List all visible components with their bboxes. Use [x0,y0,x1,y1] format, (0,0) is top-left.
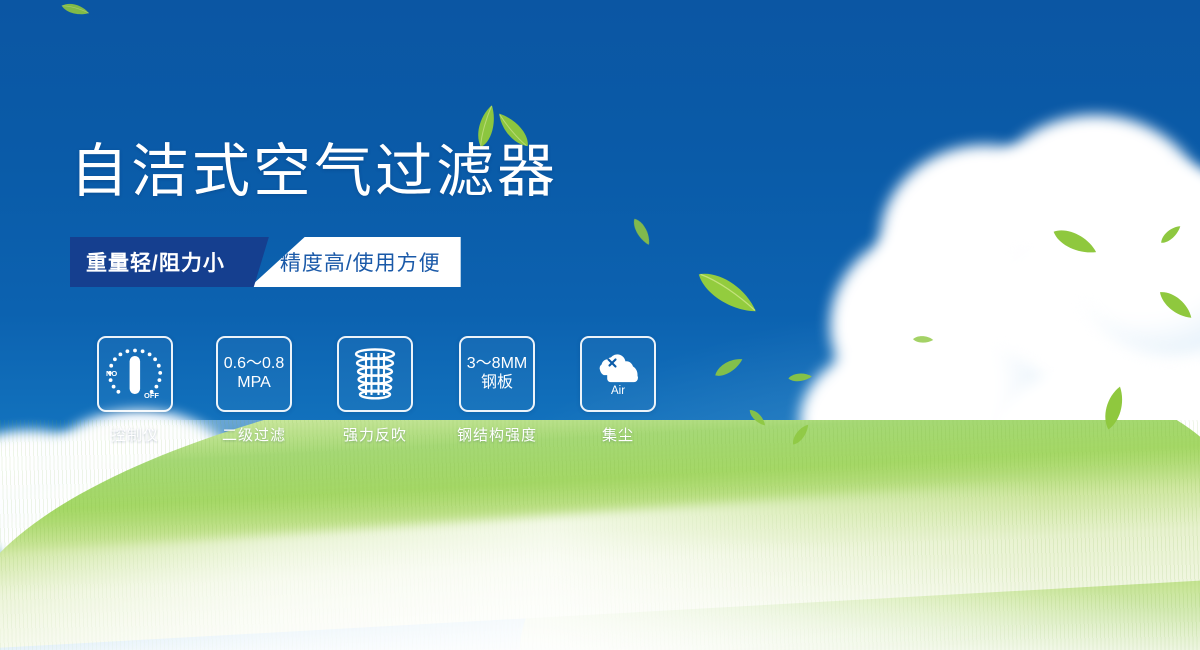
feature-icon-row: NO OFF 控制仪 0.6〜0.8 MPA 二级过滤 [76,336,678,445]
pressure-text-icon: 0.6〜0.8 MPA [224,355,285,393]
banner-content: 自洁式空气过滤器 重量轻/阻力小 精度高/使用方便 [0,0,1200,650]
subtitle-right-segment: 精度高/使用方便 [250,237,461,287]
pressure-line-1: 0.6〜0.8 [224,355,285,374]
product-hero-banner: 自洁式空气过滤器 重量轻/阻力小 精度高/使用方便 [0,0,1200,650]
feature-icon-box: 0.6〜0.8 MPA [216,336,292,412]
feature-label: 钢结构强度 [457,424,537,445]
steel-line-1: 3〜8MM [467,355,527,374]
feature-icon-box: 3〜8MM 钢板 [459,336,535,412]
subtitle-bar: 重量轻/阻力小 精度高/使用方便 [70,237,461,287]
gauge-label-off: OFF [144,391,159,400]
feature-icon-box: NO OFF [97,336,173,412]
feature-icon-box: Air [580,336,656,412]
feature-item[interactable]: 强力反吹 [314,336,436,445]
feature-item[interactable]: NO OFF 控制仪 [76,336,194,445]
page-title: 自洁式空气过滤器 [70,143,558,201]
feature-icon-box [337,336,413,412]
feature-label: 强力反吹 [343,424,407,445]
gauge-icon: NO OFF [104,345,166,403]
feature-item[interactable]: 0.6〜0.8 MPA 二级过滤 [194,336,314,445]
feature-item[interactable]: 3〜8MM 钢板 钢结构强度 [436,336,558,445]
feature-label: 集尘 [602,424,634,445]
cloud-air-label: Air [611,385,625,397]
cloud-air-icon: Air [587,345,649,403]
steel-plate-text-icon: 3〜8MM 钢板 [467,355,527,393]
subtitle-left-segment: 重量轻/阻力小 [70,237,243,287]
pressure-line-2: MPA [224,374,285,393]
filter-cartridge-icon [346,345,404,403]
feature-label: 二级过滤 [222,424,286,445]
gauge-label-no: NO [106,369,117,378]
feature-label: 控制仪 [111,424,159,445]
feature-item[interactable]: Air 集尘 [558,336,678,445]
steel-line-2: 钢板 [467,374,527,393]
